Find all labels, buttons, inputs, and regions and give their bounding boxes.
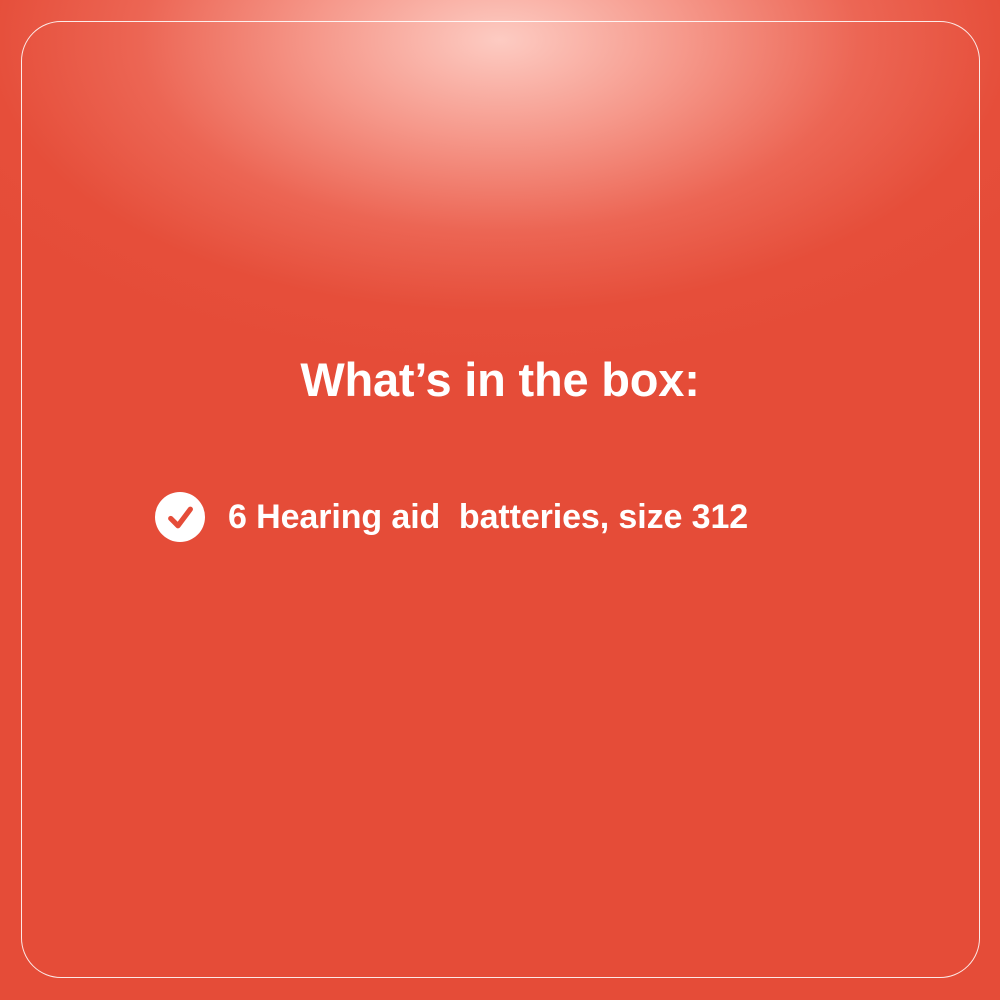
list-item: 6 Hearing aid batteries, size 312 (155, 492, 945, 542)
whats-in-the-box-card: What’s in the box: 6 Hearing aid batteri… (0, 0, 1000, 1000)
contents-list: 6 Hearing aid batteries, size 312 (155, 492, 945, 568)
card-content: What’s in the box: 6 Hearing aid batteri… (0, 0, 1000, 1000)
list-item-label: 6 Hearing aid batteries, size 312 (228, 497, 748, 537)
check-circle-icon (155, 492, 205, 542)
page-title: What’s in the box: (0, 352, 1000, 408)
